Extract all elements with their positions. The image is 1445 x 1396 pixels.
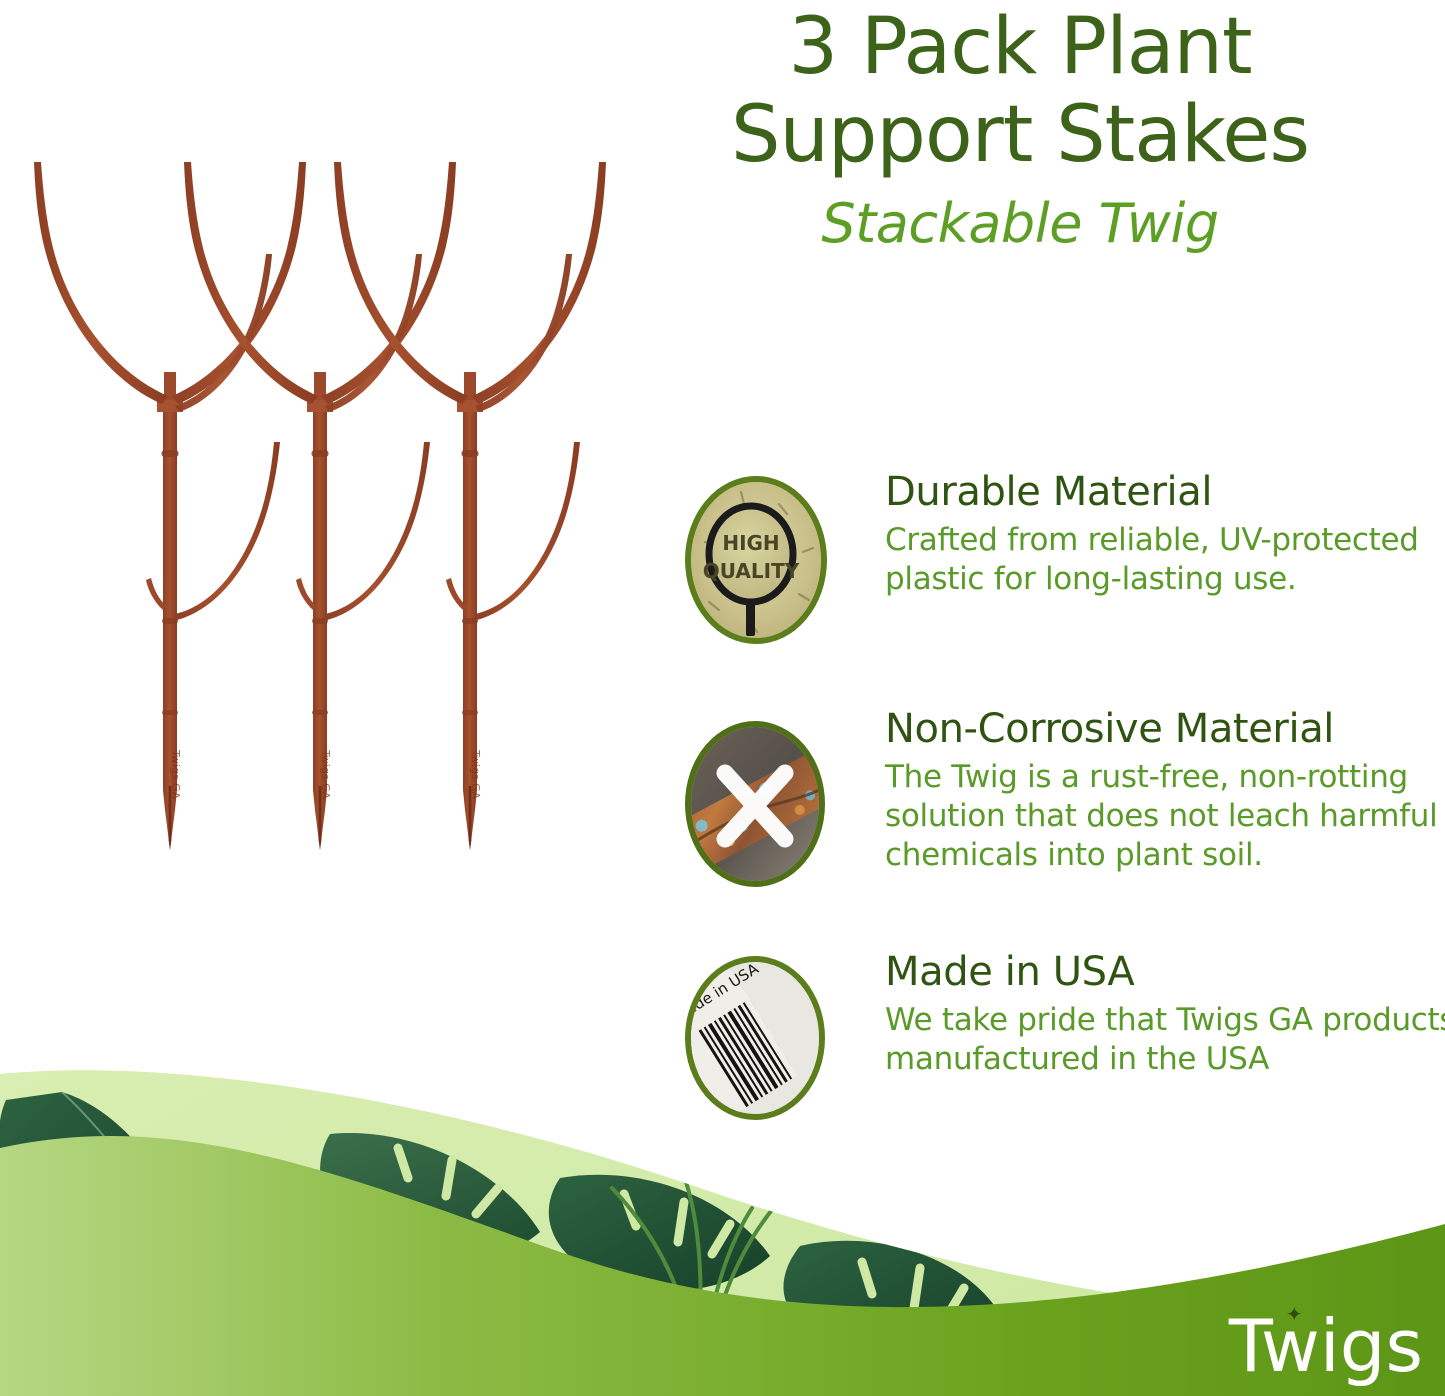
feature-text: Non-Corrosive Material The Twig is a rus… (885, 707, 1430, 875)
rust-icon-art (691, 727, 819, 881)
sprout-icon: ✦ (1286, 1304, 1303, 1324)
page-title-line-1: 3 Pack Plant (620, 8, 1420, 86)
badge-text-quality: QUALITY (703, 559, 800, 583)
page-subtitle: Stackable Twig (620, 192, 1420, 255)
feature-body-line: We take pride that Twigs GA products are (885, 1001, 1430, 1040)
feature-heading: Made in USA (885, 950, 1430, 995)
feature-body-line: chemicals into plant soil. (885, 836, 1430, 875)
feature-body: The Twig is a rust-free, non-rotting sol… (885, 758, 1430, 875)
rusty-pipe-crossed-out-icon (685, 721, 825, 887)
feature-body: Crafted from reliable, UV-protected plas… (885, 521, 1430, 599)
feature-heading: Non-Corrosive Material (885, 707, 1430, 752)
product-infographic: 3 Pack Plant Support Stakes Stackable Tw… (0, 0, 1445, 1396)
feature-text: Durable Material Crafted from reliable, … (885, 470, 1430, 599)
feature-body-line: The Twig is a rust-free, non-rotting (885, 758, 1430, 797)
brand-logo: Twigs ✦ (1229, 1310, 1423, 1382)
feature-body-line: plastic for long-lasting use. (885, 560, 1430, 599)
page-title-line-2: Support Stakes (620, 96, 1420, 174)
badge-text-high: HIGH (722, 531, 779, 555)
high-quality-icon-art: HIGH QUALITY (691, 482, 821, 638)
brand-name: Twigs (1229, 1304, 1423, 1388)
feature-body-line: solution that does not leach harmful (885, 797, 1430, 836)
feature-item: HIGH QUALITY Durable Material Crafted fr… (685, 470, 1430, 707)
feature-heading: Durable Material (885, 470, 1430, 515)
header: 3 Pack Plant Support Stakes Stackable Tw… (620, 8, 1420, 255)
feature-body-line: Crafted from reliable, UV-protected (885, 521, 1430, 560)
bottom-decoration: Twigs ✦ (0, 1056, 1445, 1396)
stakes-illustration: Twigs GA (10, 130, 610, 960)
feature-item: Non-Corrosive Material The Twig is a rus… (685, 707, 1430, 950)
high-quality-magnifier-icon: HIGH QUALITY (685, 476, 827, 644)
product-image-plant-support-stakes: Twigs GA (10, 130, 610, 960)
